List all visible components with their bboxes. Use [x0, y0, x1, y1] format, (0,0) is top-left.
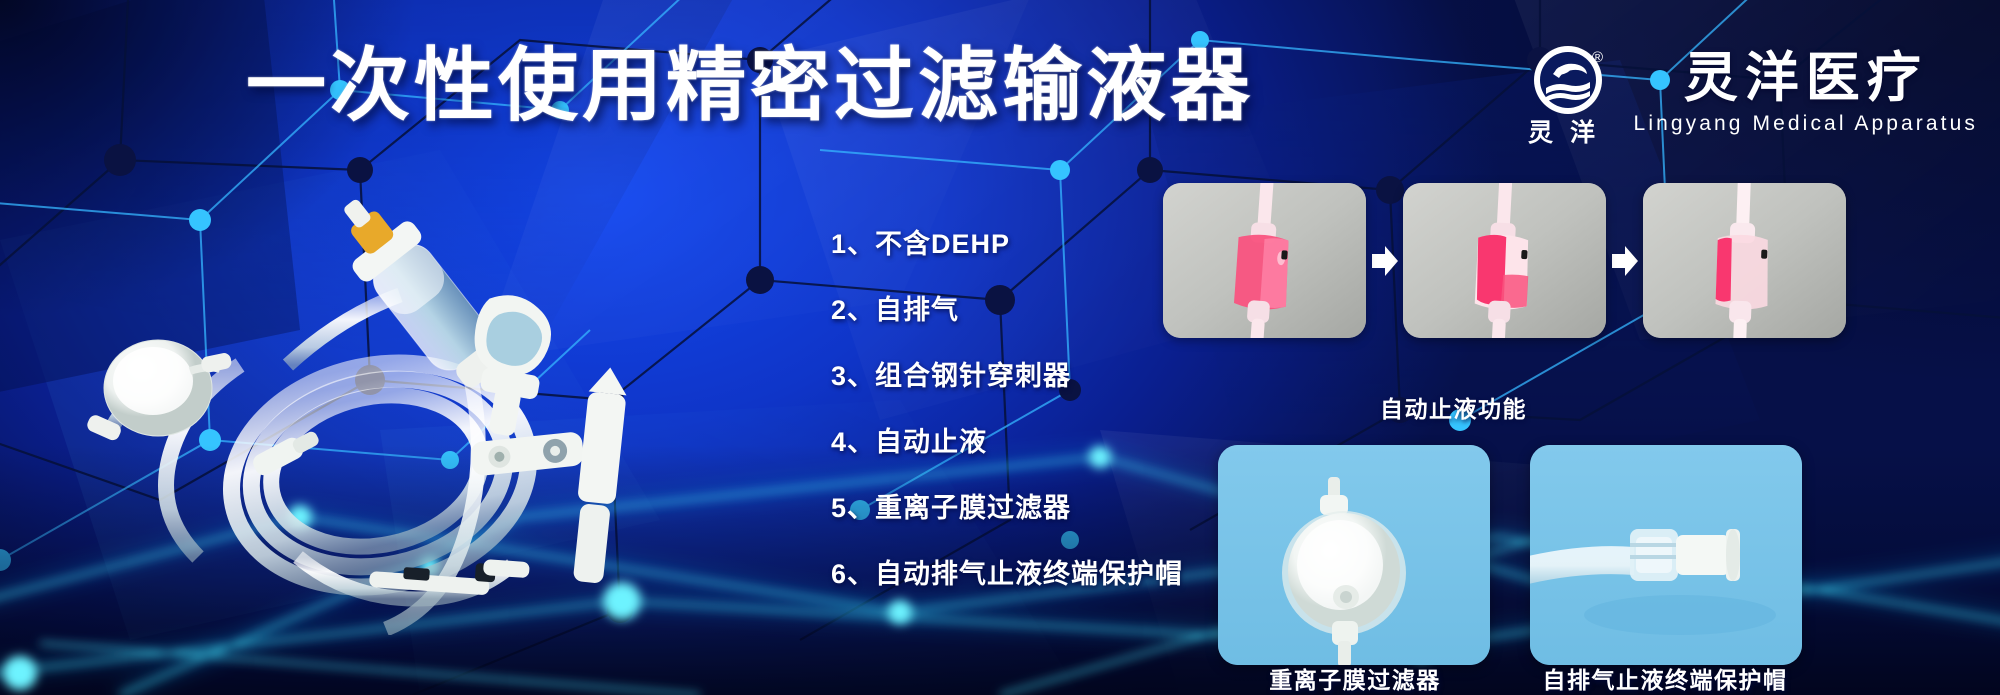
product-panel-filter [1218, 445, 1490, 665]
arrow-right-icon [1612, 246, 1638, 276]
promo-banner: 一次性使用精密过滤输液器 ® 灵 洋 灵洋医疗 Lingyang Medical… [0, 0, 2000, 695]
product-panel-caption-cap: 自排气止液终端保护帽 [1543, 661, 1788, 695]
feature-item-1: 1、不含DEHP [831, 222, 1183, 261]
page-title: 一次性使用精密过滤输液器 [246, 46, 1254, 126]
feature-item-5: 5、重离子膜过滤器 [831, 486, 1183, 525]
arrow-right-1 [1366, 246, 1403, 276]
feature-item-3: 3、组合钢针穿刺器 [831, 354, 1183, 393]
demo-sequence-caption: 自动止液功能 [1380, 390, 1527, 424]
brand-logo: ® 灵 洋 灵洋医疗 Lingyang Medical Apparatus [1520, 38, 1978, 148]
feature-item-2: 2、自排气 [831, 288, 1183, 327]
hero-product-photo [40, 175, 820, 635]
brand-name-cn: 灵洋医疗 [1684, 50, 1928, 107]
feature-item-6: 6、自动排气止液终端保护帽 [831, 552, 1183, 591]
product-panel-caption-filter: 重离子膜过滤器 [1269, 661, 1441, 695]
svg-text:洋: 洋 [1570, 118, 1595, 147]
demo-frame-partial [1403, 183, 1606, 338]
feature-list: 1、不含DEHP 2、自排气 3、组合钢针穿刺器 4、自动止液 5、重离子膜过滤… [831, 222, 1183, 591]
demo-sequence-row [1163, 183, 1846, 338]
svg-text:®: ® [1592, 49, 1603, 66]
svg-text:灵: 灵 [1528, 119, 1553, 147]
logo-mark-icon: ® 灵 洋 [1520, 38, 1616, 148]
feature-item-4: 4、自动止液 [831, 420, 1183, 459]
arrow-right-2 [1606, 246, 1643, 276]
product-panel-cap [1530, 445, 1802, 665]
arrow-right-icon [1372, 246, 1398, 276]
demo-frame-empty [1643, 183, 1846, 338]
brand-wordmark: 灵洋医疗 Lingyang Medical Apparatus [1634, 50, 1978, 136]
demo-frame-full [1163, 183, 1366, 338]
brand-name-en: Lingyang Medical Apparatus [1634, 112, 1978, 136]
